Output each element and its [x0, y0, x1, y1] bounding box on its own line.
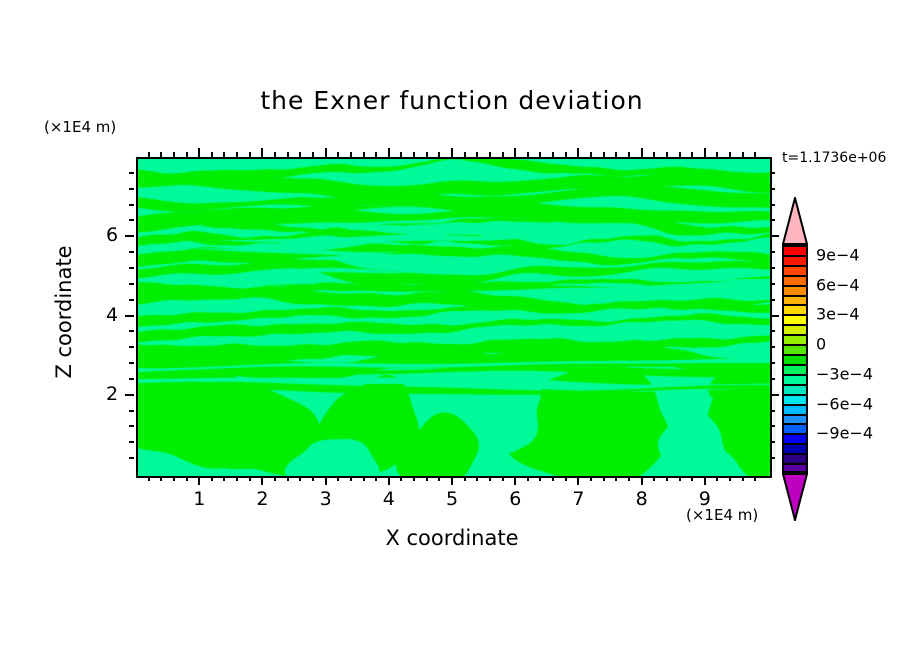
- y-tick: [770, 235, 779, 237]
- colorbar-separator: [782, 384, 808, 386]
- x-tick: [211, 152, 213, 157]
- x-tick-label: 1: [193, 488, 205, 510]
- colorbar-separator: [782, 394, 808, 396]
- x-tick: [211, 476, 213, 481]
- y-tick: [129, 362, 134, 364]
- x-tick: [186, 476, 188, 481]
- colorbar-separator: [782, 354, 808, 356]
- colorbar-tick-label: 0: [816, 335, 826, 354]
- x-tick: [476, 152, 478, 157]
- x-tick: [577, 148, 579, 157]
- x-tick: [742, 476, 744, 481]
- x-tick: [628, 152, 630, 157]
- y-tick: [770, 283, 775, 285]
- colorbar-separator: [782, 245, 808, 247]
- y-tick: [770, 394, 779, 396]
- y-tick: [125, 235, 134, 237]
- y-tick: [129, 330, 134, 332]
- colorbar-separator: [782, 414, 808, 416]
- colorbar-tick-label: −3e−4: [816, 364, 873, 383]
- colorbar-separator: [782, 344, 808, 346]
- x-tick: [198, 148, 200, 157]
- x-tick: [729, 476, 731, 481]
- x-tick: [400, 152, 402, 157]
- time-annotation: t=1.1736e+06: [782, 150, 886, 166]
- x-tick: [388, 148, 390, 157]
- x-tick: [716, 476, 718, 481]
- y-tick: [125, 315, 134, 317]
- colorbar-separator: [782, 334, 808, 336]
- colorbar-bands: [782, 245, 808, 473]
- colorbar-separator: [782, 453, 808, 455]
- x-tick-label: 9: [699, 488, 711, 510]
- colorbar-separator: [782, 364, 808, 366]
- colorbar-separator: [782, 255, 808, 257]
- y-axis-unit-label: (×1E4 m): [44, 118, 116, 136]
- x-tick: [438, 476, 440, 481]
- x-tick-label: 7: [572, 488, 584, 510]
- colorbar-tick-label: −9e−4: [816, 424, 873, 443]
- colorbar-separator: [782, 304, 808, 306]
- colorbar-separator: [782, 423, 808, 425]
- colorbar-separator: [782, 275, 808, 277]
- x-tick: [603, 476, 605, 481]
- x-tick: [337, 152, 339, 157]
- colorbar-separator: [782, 463, 808, 465]
- colorbar-separator: [782, 404, 808, 406]
- x-tick-label: 6: [509, 488, 521, 510]
- x-tick-label: 8: [636, 488, 648, 510]
- y-tick: [129, 299, 134, 301]
- y-axis-title: Z coordinate: [52, 222, 76, 402]
- x-tick: [363, 152, 365, 157]
- x-tick: [539, 476, 541, 481]
- colorbar: [782, 245, 808, 473]
- y-tick: [770, 267, 775, 269]
- x-tick: [299, 476, 301, 481]
- x-tick: [691, 476, 693, 481]
- x-tick: [476, 476, 478, 481]
- x-axis-title: X coordinate: [136, 526, 768, 550]
- x-tick: [173, 152, 175, 157]
- y-tick: [129, 172, 134, 174]
- x-tick: [489, 152, 491, 157]
- x-tick: [552, 476, 554, 481]
- x-tick: [325, 148, 327, 157]
- x-tick: [160, 152, 162, 157]
- x-tick-label: 2: [256, 488, 268, 510]
- y-tick: [129, 283, 134, 285]
- x-tick: [641, 148, 643, 157]
- x-tick: [489, 476, 491, 481]
- y-tick-label: 4: [106, 304, 118, 326]
- x-tick-label: 5: [446, 488, 458, 510]
- x-tick: [653, 476, 655, 481]
- x-tick: [438, 152, 440, 157]
- y-tick: [129, 267, 134, 269]
- y-tick: [770, 441, 775, 443]
- y-tick-label: 2: [106, 383, 118, 405]
- x-tick: [641, 476, 643, 485]
- x-tick: [577, 476, 579, 485]
- y-tick: [770, 378, 775, 380]
- x-tick: [527, 476, 529, 481]
- x-tick: [742, 152, 744, 157]
- colorbar-separator: [782, 295, 808, 297]
- y-tick: [770, 251, 775, 253]
- x-tick: [464, 476, 466, 481]
- y-tick: [770, 219, 775, 221]
- x-tick: [527, 152, 529, 157]
- y-tick: [770, 188, 775, 190]
- x-tick-label: 3: [320, 488, 332, 510]
- x-tick: [325, 476, 327, 485]
- colorbar-bottom-cap-icon: [782, 473, 808, 521]
- x-tick: [754, 476, 756, 481]
- x-tick: [552, 152, 554, 157]
- x-tick: [160, 476, 162, 481]
- x-tick: [274, 476, 276, 481]
- y-tick: [770, 315, 779, 317]
- x-tick: [666, 152, 668, 157]
- y-tick: [129, 346, 134, 348]
- contour-field: [138, 159, 770, 476]
- y-tick: [129, 219, 134, 221]
- x-tick: [514, 148, 516, 157]
- colorbar-separator: [782, 285, 808, 287]
- y-tick: [770, 410, 775, 412]
- x-tick: [236, 476, 238, 481]
- x-tick: [666, 476, 668, 481]
- x-tick: [426, 476, 428, 481]
- colorbar-tick-label: 6e−4: [816, 275, 860, 294]
- colorbar-tick-label: 3e−4: [816, 305, 860, 324]
- x-tick: [628, 476, 630, 481]
- x-tick: [148, 152, 150, 157]
- x-tick: [337, 476, 339, 481]
- y-tick: [770, 330, 775, 332]
- x-tick: [565, 476, 567, 481]
- colorbar-separator: [782, 314, 808, 316]
- x-tick: [287, 476, 289, 481]
- x-tick: [679, 152, 681, 157]
- x-tick: [223, 476, 225, 481]
- colorbar-top-cap-icon: [782, 197, 808, 245]
- x-tick: [615, 476, 617, 481]
- y-tick: [770, 346, 775, 348]
- x-tick: [514, 476, 516, 485]
- y-tick: [129, 457, 134, 459]
- y-tick: [125, 394, 134, 396]
- y-tick: [129, 425, 134, 427]
- colorbar-separator: [782, 433, 808, 435]
- y-tick: [770, 172, 775, 174]
- x-tick: [679, 476, 681, 481]
- x-tick: [451, 148, 453, 157]
- y-tick: [770, 299, 775, 301]
- x-tick: [249, 152, 251, 157]
- colorbar-separator: [782, 324, 808, 326]
- x-tick: [691, 152, 693, 157]
- colorbar-separator: [782, 443, 808, 445]
- x-tick: [615, 152, 617, 157]
- y-tick: [770, 362, 775, 364]
- y-tick: [770, 204, 775, 206]
- x-tick: [388, 476, 390, 485]
- x-tick: [729, 152, 731, 157]
- x-tick: [451, 476, 453, 485]
- x-tick: [754, 152, 756, 157]
- x-tick: [148, 476, 150, 481]
- colorbar-separator: [782, 265, 808, 267]
- x-tick: [287, 152, 289, 157]
- y-tick: [129, 378, 134, 380]
- y-tick: [129, 188, 134, 190]
- y-tick: [129, 441, 134, 443]
- x-tick: [312, 152, 314, 157]
- x-tick: [426, 152, 428, 157]
- x-tick: [590, 476, 592, 481]
- x-tick: [502, 476, 504, 481]
- x-tick: [413, 152, 415, 157]
- colorbar-tick-label: 9e−4: [816, 245, 860, 264]
- x-tick: [464, 152, 466, 157]
- x-tick: [590, 152, 592, 157]
- x-tick: [413, 476, 415, 481]
- colorbar-separator: [782, 374, 808, 376]
- x-tick: [350, 476, 352, 481]
- x-tick: [261, 476, 263, 485]
- x-tick: [274, 152, 276, 157]
- x-tick: [363, 476, 365, 481]
- x-tick: [223, 152, 225, 157]
- x-tick: [375, 476, 377, 481]
- x-tick: [312, 476, 314, 481]
- y-tick: [129, 251, 134, 253]
- x-tick: [603, 152, 605, 157]
- x-tick: [400, 476, 402, 481]
- y-tick: [129, 410, 134, 412]
- colorbar-tick-label: −6e−4: [816, 394, 873, 413]
- x-tick: [173, 476, 175, 481]
- contour-plot-area: [136, 157, 772, 478]
- x-tick: [261, 148, 263, 157]
- x-tick: [539, 152, 541, 157]
- x-tick: [375, 152, 377, 157]
- x-tick: [186, 152, 188, 157]
- x-tick: [716, 152, 718, 157]
- y-tick: [129, 204, 134, 206]
- y-tick: [770, 457, 775, 459]
- y-tick: [770, 425, 775, 427]
- x-tick: [236, 152, 238, 157]
- x-tick: [350, 152, 352, 157]
- y-tick-label: 6: [106, 224, 118, 246]
- page-title: the Exner function deviation: [0, 86, 904, 115]
- x-tick: [565, 152, 567, 157]
- x-axis-unit-label: (×1E4 m): [686, 506, 758, 524]
- x-tick: [704, 476, 706, 485]
- x-tick: [653, 152, 655, 157]
- x-tick-label: 4: [383, 488, 395, 510]
- x-tick: [502, 152, 504, 157]
- x-tick: [198, 476, 200, 485]
- x-tick: [704, 148, 706, 157]
- x-tick: [299, 152, 301, 157]
- x-tick: [249, 476, 251, 481]
